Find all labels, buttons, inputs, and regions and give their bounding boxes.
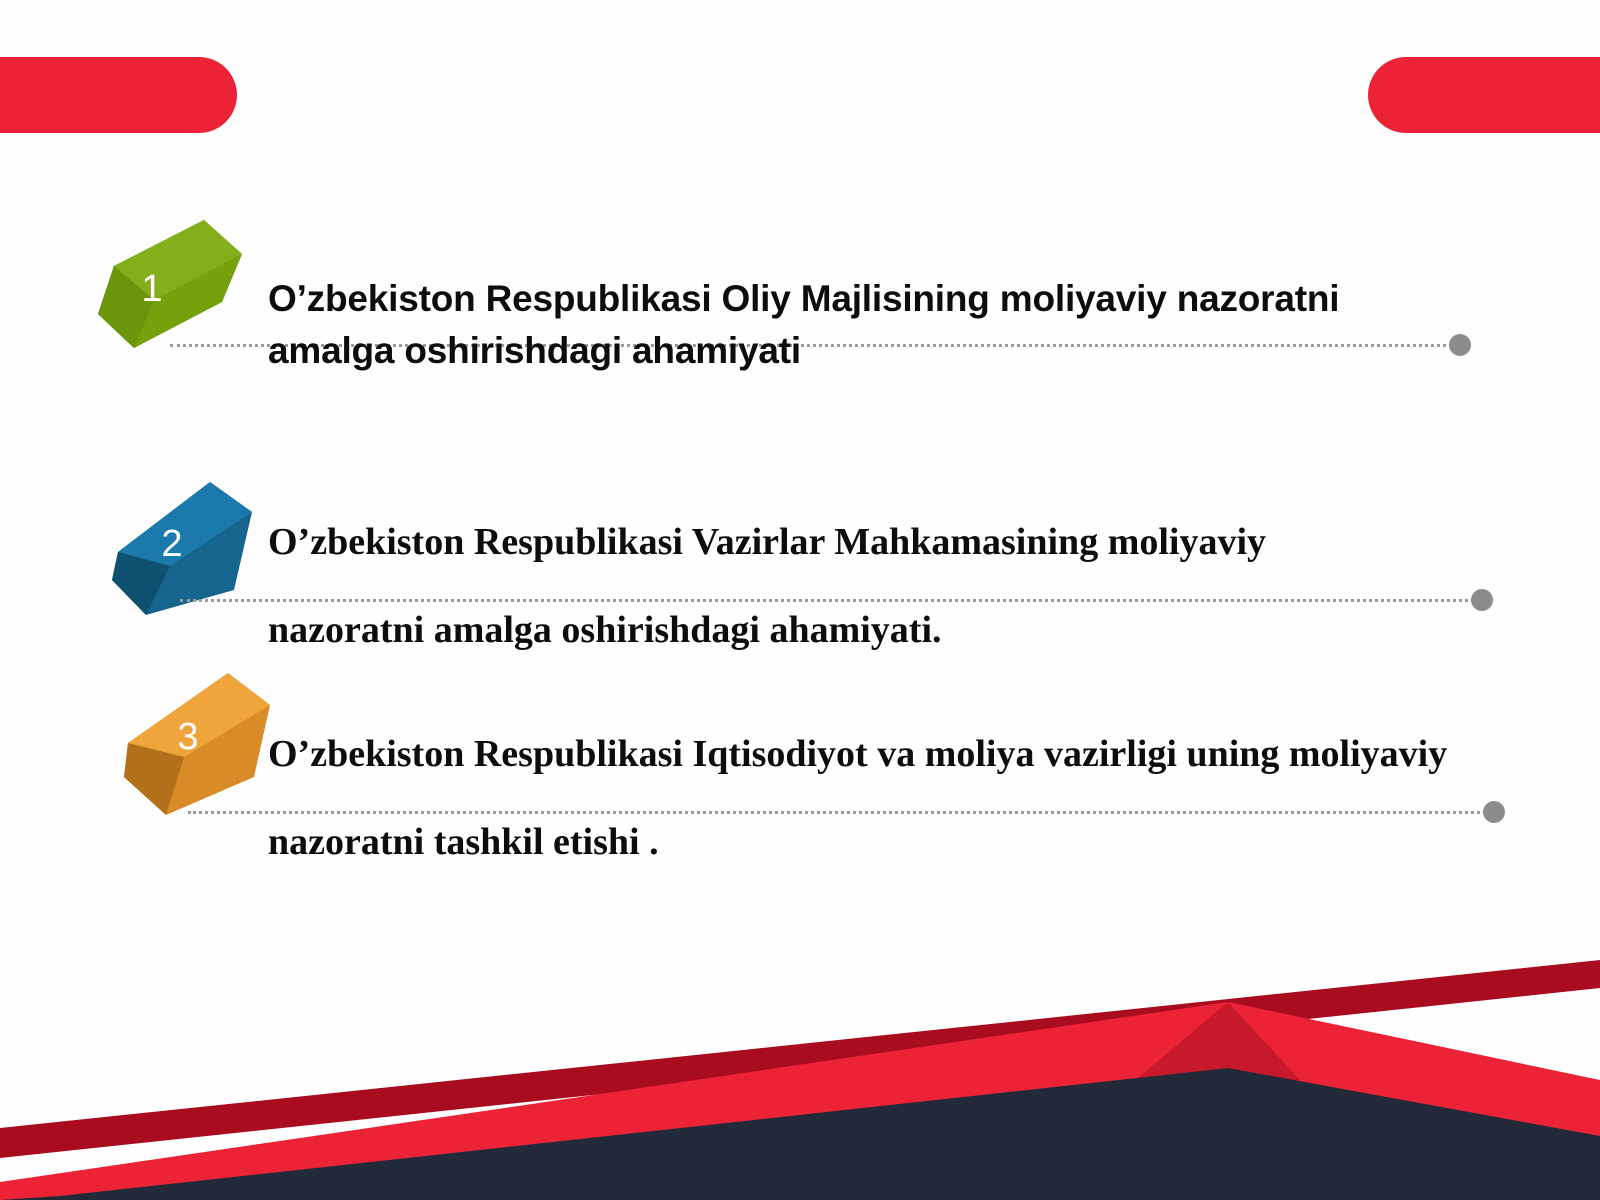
slide-canvas: 1 O’zbekiston Respublikasi Oliy Majlisin… — [0, 0, 1600, 1200]
badge-cube-3: 3 — [118, 665, 268, 805]
list-item-2-line-1: O’zbekiston Respublikasi Vazirlar Mahkam… — [268, 498, 1498, 586]
cube-3-shape — [118, 665, 278, 815]
list-item-1-line-2: amalga oshirishdagi ahamiyati — [268, 325, 1468, 377]
list-item-3-line-1: O’zbekiston Respublikasi Iqtisodiyot va … — [268, 710, 1528, 798]
top-left-red-pill-decoration — [0, 57, 237, 133]
list-item-2-line-2: nazoratni amalga oshirishdagi ahamiyati. — [268, 586, 1498, 674]
list-item-1-text: O’zbekiston Respublikasi Oliy Majlisinin… — [268, 273, 1468, 377]
list-item-2-text: O’zbekiston Respublikasi Vazirlar Mahkam… — [268, 498, 1498, 674]
badge-cube-2: 2 — [110, 470, 260, 610]
list-item-3-text: O’zbekiston Respublikasi Iqtisodiyot va … — [268, 710, 1528, 886]
top-right-red-pill-decoration — [1368, 57, 1600, 133]
cube-1-shape — [92, 208, 242, 348]
cube-2-shape — [110, 470, 260, 615]
bottom-ribbon-decoration — [0, 960, 1600, 1200]
list-item-1-line-1: O’zbekiston Respublikasi Oliy Majlisinin… — [268, 273, 1468, 325]
list-item-3-line-2: nazoratni tashkil etishi . — [268, 798, 1528, 886]
badge-cube-1: 1 — [92, 208, 242, 348]
